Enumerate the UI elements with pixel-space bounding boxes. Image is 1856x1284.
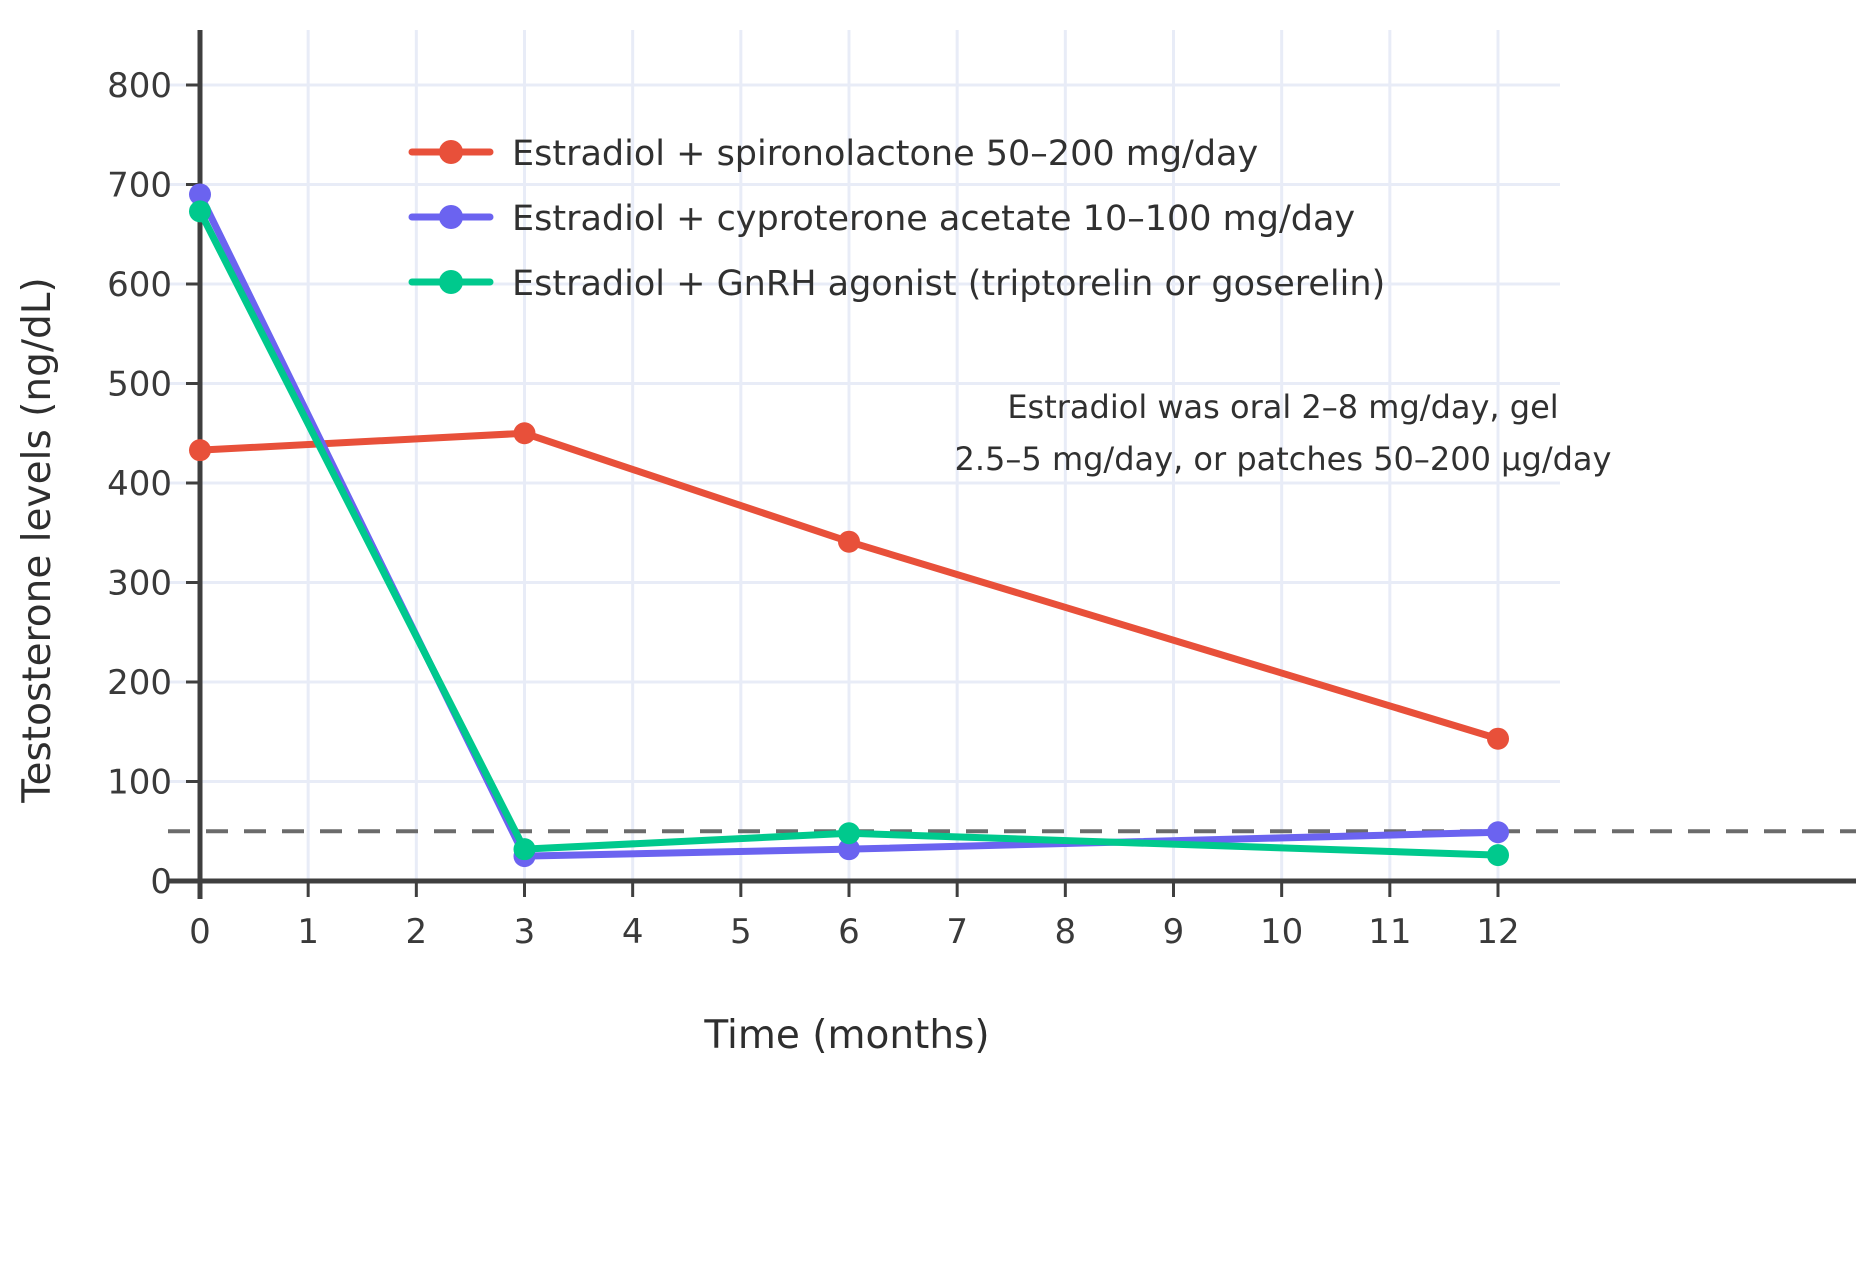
x-tick-label: 11: [1368, 912, 1411, 952]
y-tick-label: 200: [107, 663, 172, 703]
annotation-line-2: 2.5–5 mg/day, or patches 50–200 µg/day: [955, 440, 1612, 478]
legend-marker-icon: [439, 270, 463, 294]
legend-label: Estradiol + cyproterone acetate 10–100 m…: [512, 199, 1355, 239]
legend-entry-3[interactable]: Estradiol + GnRH agonist (triptorelin or…: [412, 264, 1385, 304]
x-tick-label: 9: [1163, 912, 1185, 952]
y-axis-title: Testosterone levels (ng/dL): [15, 277, 60, 803]
data-point-marker: [189, 439, 211, 461]
y-tick-labels: 8007006005004003002001000: [107, 66, 172, 902]
data-point-marker: [838, 822, 860, 844]
testosterone-line-chart: 8007006005004003002001000 01234567891011…: [0, 0, 1856, 1284]
y-tick-label: 0: [150, 862, 172, 902]
annotation-line-1: Estradiol was oral 2–8 mg/day, gel: [1007, 388, 1558, 426]
y-tick-label: 700: [107, 166, 172, 206]
legend-label: Estradiol + spironolactone 50–200 mg/day: [512, 134, 1258, 174]
x-tick-label: 6: [838, 912, 860, 952]
data-point-marker: [514, 422, 536, 444]
legend-label: Estradiol + GnRH agonist (triptorelin or…: [512, 264, 1385, 304]
chart-legend: Estradiol + spironolactone 50–200 mg/day…: [412, 134, 1385, 304]
x-tick-label: 12: [1476, 912, 1519, 952]
y-tick-label: 300: [107, 564, 172, 604]
x-tick-label: 4: [622, 912, 644, 952]
x-tick-label: 3: [514, 912, 536, 952]
x-tick-label: 7: [946, 912, 968, 952]
data-point-marker: [1487, 821, 1509, 843]
x-tick-label: 5: [730, 912, 752, 952]
legend-marker-icon: [439, 205, 463, 229]
x-tick-label: 1: [297, 912, 319, 952]
data-point-marker: [1487, 728, 1509, 750]
y-tick-label: 100: [107, 763, 172, 803]
legend-entry-1[interactable]: Estradiol + spironolactone 50–200 mg/day: [412, 134, 1258, 174]
x-axis-title: Time (months): [703, 1013, 989, 1058]
data-point-marker: [189, 200, 211, 222]
y-tick-label: 600: [107, 265, 172, 305]
x-tick-label: 10: [1260, 912, 1303, 952]
x-tick-label: 8: [1055, 912, 1077, 952]
data-point-marker: [514, 838, 536, 860]
chart-figure: 8007006005004003002001000 01234567891011…: [0, 0, 1856, 1284]
x-tick-label: 2: [406, 912, 428, 952]
legend-entry-2[interactable]: Estradiol + cyproterone acetate 10–100 m…: [412, 199, 1355, 239]
y-tick-label: 400: [107, 464, 172, 504]
legend-marker-icon: [439, 140, 463, 164]
data-point-marker: [838, 531, 860, 553]
y-tick-label: 800: [107, 66, 172, 106]
x-tick-label: 0: [189, 912, 211, 952]
x-tick-labels: 0123456789101112: [189, 912, 1519, 952]
data-point-marker: [1487, 844, 1509, 866]
y-tick-label: 500: [107, 365, 172, 405]
